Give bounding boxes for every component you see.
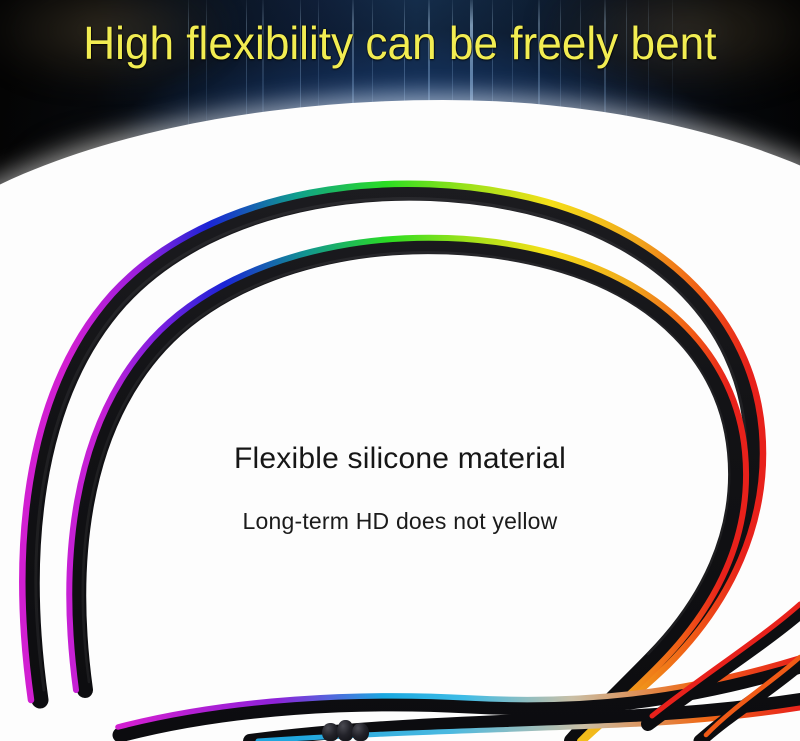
banner-headline: High flexibility can be freely bent [83,18,716,68]
connector-cluster [322,714,382,741]
headline-container: High flexibility can be freely bent [0,18,800,68]
cable-bottom-tails [118,658,800,741]
connector-nub [352,723,369,741]
caption-primary: Flexible silicone material [0,440,800,478]
caption-block: Flexible silicone material Long-term HD … [0,440,800,536]
product-banner: High flexibility can be freely bent [0,0,800,741]
caption-secondary: Long-term HD does not yellow [0,506,800,536]
cable-illustration [0,0,800,741]
